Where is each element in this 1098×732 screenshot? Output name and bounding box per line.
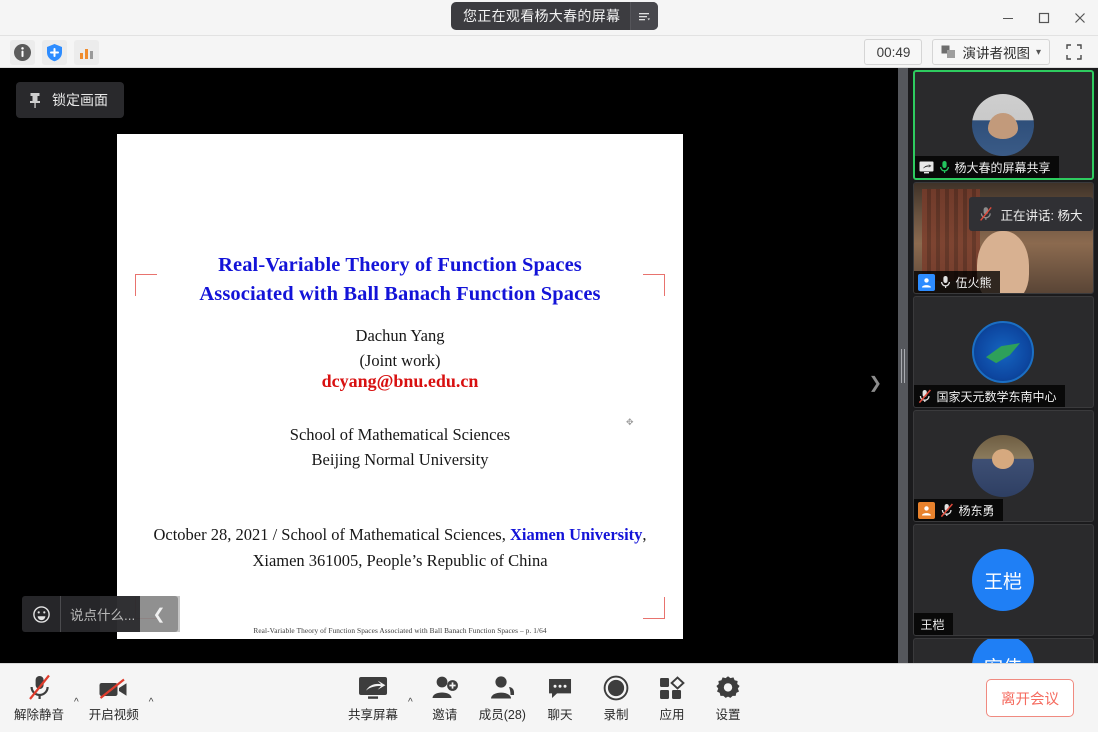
slide-affiliation-line-1: School of Mathematical Sciences	[117, 422, 683, 447]
secondary-toolbar: 00:49 演讲者视图 ▾	[0, 36, 1098, 68]
participant-name: 伍火熊	[956, 274, 992, 291]
share-options-caret-icon[interactable]: ^	[404, 697, 417, 708]
meeting-info-icon[interactable]	[10, 40, 35, 65]
pin-icon	[28, 92, 42, 109]
apps-grid-icon	[659, 673, 685, 701]
maximize-button[interactable]	[1026, 0, 1062, 36]
video-options-caret-icon[interactable]: ^	[145, 697, 158, 708]
lock-screen-button[interactable]: 锁定画面	[16, 82, 124, 118]
mic-muted-icon	[940, 503, 954, 518]
video-off-icon	[98, 673, 129, 701]
participant-name-bar: 国家天元数学东南中心	[914, 385, 1065, 407]
lock-screen-label: 锁定画面	[52, 90, 108, 110]
participant-name: 杨大春的屏幕共享	[955, 159, 1051, 176]
slide-title-line-2: Associated with Ball Banach Function Spa…	[117, 280, 683, 309]
apps-label: 应用	[659, 704, 684, 723]
participant-name: 国家天元数学东南中心	[937, 388, 1057, 405]
invite-button[interactable]: 邀请	[417, 671, 473, 723]
avatar	[972, 435, 1034, 497]
chat-overlay: 说点什么... ❮	[22, 596, 178, 632]
participant-strip[interactable]: 杨大春的屏幕共享 正在讲话: 杨大	[908, 68, 1098, 663]
mic-muted-icon	[918, 389, 932, 404]
slide-title-line-1: Real-Variable Theory of Function Spaces	[117, 251, 683, 280]
participant-tile[interactable]: 杨大春的屏幕共享	[913, 70, 1094, 180]
slide-venue-highlight: Xiamen University	[510, 525, 642, 544]
participant-name: 王桤	[921, 616, 945, 633]
crop-mark-bottom-right	[643, 597, 665, 619]
strip-drag-handle[interactable]	[898, 68, 908, 663]
chat-button[interactable]: 聊天	[532, 671, 588, 723]
list-menu-icon[interactable]	[630, 2, 658, 30]
avatar-initials: 宏伟	[972, 638, 1034, 663]
settings-button[interactable]: 设置	[700, 671, 756, 723]
participant-tile[interactable]: 国家天元数学东南中心	[913, 296, 1094, 408]
audio-options-caret-icon[interactable]: ^	[70, 697, 83, 708]
slide-venue-prefix: October 28, 2021 / School of Mathematica…	[153, 525, 510, 544]
shared-screen-stage: 锁定画面 Real-Variable Theory of Function Sp…	[0, 68, 898, 663]
fullscreen-icon[interactable]	[1060, 39, 1088, 65]
slide-joint-work: (Joint work)	[117, 349, 683, 374]
mic-icon	[940, 275, 951, 289]
leave-meeting-button[interactable]: 离开会议	[986, 679, 1074, 717]
slide-author-name: Dachun Yang	[117, 324, 683, 349]
slide-venue-line-2: Xiamen 361005, People’s Republic of Chin…	[117, 548, 683, 574]
slide-email: dcyang@bnu.edu.cn	[117, 371, 683, 392]
slide-affiliation: School of Mathematical Sciences Beijing …	[117, 422, 683, 472]
meeting-controls-left: 解除静音 ^ 开启视频 ^	[8, 671, 157, 723]
speaking-tooltip: 正在讲话: 杨大	[969, 197, 1093, 231]
chat-input[interactable]: 说点什么...	[60, 596, 140, 632]
organization-logo-icon	[972, 321, 1034, 383]
close-button[interactable]	[1062, 0, 1098, 36]
secondary-toolbar-left	[10, 40, 99, 65]
meeting-controls-toolbar: 解除静音 ^ 开启视频 ^	[0, 663, 1098, 732]
slide-venue-suffix: ,	[642, 525, 646, 544]
participant-name-bar: 伍火熊	[914, 271, 1000, 293]
screen-share-banner: 您正在观看杨大春的屏幕	[451, 2, 658, 30]
unmute-label: 解除静音	[14, 704, 64, 723]
security-shield-icon[interactable]	[42, 40, 67, 65]
video-off-badge-icon	[918, 502, 935, 519]
meeting-controls-center: 共享屏幕 ^ 邀请	[342, 671, 756, 723]
chat-collapse-icon[interactable]: ❮	[140, 596, 178, 632]
start-video-button[interactable]: 开启视频	[83, 671, 145, 723]
participants-label: 成员(28)	[479, 704, 526, 723]
video-badge-icon	[918, 274, 935, 291]
record-button[interactable]: 录制	[588, 671, 644, 723]
gear-icon	[715, 673, 741, 701]
record-circle-icon	[603, 673, 629, 701]
share-screen-label: 共享屏幕	[348, 704, 398, 723]
window-controls	[990, 0, 1098, 36]
chevron-down-icon: ▾	[1036, 47, 1041, 58]
chat-label: 聊天	[547, 704, 572, 723]
unmute-button[interactable]: 解除静音	[8, 671, 70, 723]
mic-active-icon	[939, 160, 950, 174]
invite-label: 邀请	[432, 704, 457, 723]
screen-share-banner-text: 您正在观看杨大春的屏幕	[463, 6, 630, 26]
mic-muted-icon	[979, 206, 993, 222]
participant-name-bar: 杨东勇	[914, 499, 1003, 521]
minimize-button[interactable]	[990, 0, 1026, 36]
participants-icon	[489, 673, 516, 701]
speaker-view-icon	[941, 45, 956, 59]
slide-venue-line-1: October 28, 2021 / School of Mathematica…	[117, 522, 683, 548]
smiley-icon[interactable]	[22, 596, 60, 632]
participant-tile[interactable]: 王桤 王桤	[913, 524, 1094, 636]
participant-tile[interactable]: 宏伟	[913, 638, 1094, 663]
presenter-cursor-icon: ✥	[626, 417, 634, 428]
zoom-meeting-window: 您正在观看杨大春的屏幕	[0, 0, 1098, 732]
mic-muted-icon	[27, 673, 52, 701]
speaking-tooltip-text: 正在讲话: 杨大	[1001, 205, 1083, 224]
record-label: 录制	[603, 704, 628, 723]
title-bar: 您正在观看杨大春的屏幕	[0, 0, 1098, 36]
statistics-icon[interactable]	[74, 40, 99, 65]
start-video-label: 开启视频	[89, 704, 139, 723]
invite-person-icon	[431, 673, 459, 701]
participant-name-bar: 王桤	[914, 613, 953, 635]
participants-button[interactable]: 成员(28)	[473, 671, 532, 723]
presentation-slide: Real-Variable Theory of Function Spaces …	[117, 134, 683, 639]
slide-author-block: Dachun Yang (Joint work)	[117, 324, 683, 374]
share-screen-icon	[356, 673, 390, 701]
slide-title: Real-Variable Theory of Function Spaces …	[117, 251, 683, 309]
slide-affiliation-line-2: Beijing Normal University	[117, 447, 683, 472]
participant-name: 杨东勇	[959, 502, 995, 519]
screen-share-icon	[919, 161, 934, 174]
participant-tile[interactable]: 杨东勇	[913, 410, 1094, 522]
apps-button[interactable]: 应用	[644, 671, 700, 723]
chat-bubble-icon	[547, 673, 573, 701]
secondary-toolbar-right: 00:49 演讲者视图 ▾	[864, 39, 1088, 65]
participant-name-bar: 杨大春的屏幕共享	[915, 156, 1059, 178]
avatar-initials: 王桤	[972, 549, 1034, 611]
meeting-timer: 00:49	[864, 39, 922, 65]
slide-venue: October 28, 2021 / School of Mathematica…	[117, 522, 683, 573]
participant-tile[interactable]: 正在讲话: 杨大 伍火熊	[913, 182, 1094, 294]
share-screen-button[interactable]: 共享屏幕	[342, 671, 404, 723]
avatar	[972, 94, 1034, 156]
view-mode-label: 演讲者视图	[962, 42, 1030, 62]
settings-label: 设置	[715, 704, 740, 723]
slide-footer: Real-Variable Theory of Function Spaces …	[117, 626, 683, 635]
view-mode-dropdown[interactable]: 演讲者视图 ▾	[932, 39, 1050, 65]
strip-collapse-chevron-icon[interactable]: ❯	[869, 373, 882, 393]
